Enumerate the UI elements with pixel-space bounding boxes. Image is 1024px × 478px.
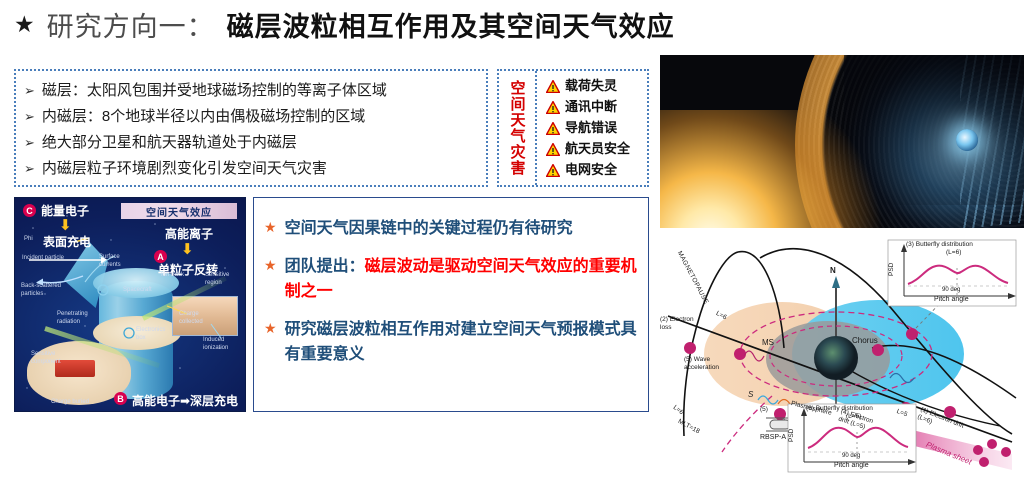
down-arrow-icon: ⬇	[181, 242, 194, 257]
label-ion-track: Ion track	[161, 271, 184, 279]
arrow-bullet-icon: ➢	[24, 78, 35, 104]
hazard-title: 空间天气灾害	[509, 80, 526, 176]
label-energetic-ions: 高能离子	[165, 225, 213, 242]
arrow-bullet-icon: ➢	[24, 130, 35, 156]
facts-item-text: 磁层：太阳风包围并受地球磁场控制的等离子体区域	[42, 78, 387, 104]
list-item: ★ 空间天气因果链中的关键过程仍有待研究	[264, 216, 638, 241]
badge-c: C	[23, 204, 36, 217]
hazard-box: 空间天气灾害 载荷失灵 通讯中断 导航错误	[497, 69, 649, 187]
radiation-belt-diagram: MAGNETOPAUSE (2) Electron loss (5) Wave …	[660, 228, 1024, 478]
space-weather-effects-banner: 空间天气效应	[121, 203, 237, 219]
facts-item-text: 内磁层：8个地球半径以内由偶极磁场控制的区域	[42, 104, 365, 130]
spacecraft-charging-figure: 空间天气效应 C A B ⬇ ⬇ 能量电子 表面充电 高能离子 单粒子反转 高能…	[14, 197, 246, 412]
warning-triangle-icon	[546, 80, 560, 93]
facts-box: ➢ 磁层：太阳风包围并受地球磁场控制的等离子体区域 ➢ 内磁层：8个地球半径以内…	[14, 69, 488, 187]
label-deep-charging: 高能电子➡深层充电	[132, 392, 238, 409]
list-item: 载荷失灵	[546, 76, 647, 96]
warning-triangle-icon	[546, 101, 560, 114]
slide-root: ★ 研究方向一： 磁层波粒相互作用及其空间天气效应 ➢ 磁层：太阳风包围并受地球…	[0, 0, 1024, 478]
facts-item-text: 绝大部分卫星和航天器轨道处于内磁层	[42, 130, 297, 156]
arrow-bullet-icon: ➢	[24, 156, 35, 182]
list-item: ★ 研究磁层波粒相互作用对建立空间天气预报模式具有重要意义	[264, 317, 638, 367]
facts-item-text: 内磁层粒子环境剧烈变化引发空间天气灾害	[42, 156, 327, 182]
arrow-bullet-icon: ➢	[24, 104, 35, 130]
page-title: ★ 研究方向一： 磁层波粒相互作用及其空间天气效应	[14, 4, 675, 44]
list-item: ➢ 绝大部分卫星和航天器轨道处于内磁层	[24, 130, 486, 156]
title-prefix: 研究方向一：	[47, 5, 215, 44]
key-points-list: ★ 空间天气因果链中的关键过程仍有待研究 ★ 团队提出：磁层波动是驱动空间天气效…	[254, 198, 648, 367]
list-item: ➢ 内磁层：8个地球半径以内由偶极磁场控制的区域	[24, 104, 486, 130]
hazard-item-label: 载荷失灵	[565, 76, 617, 96]
banner-label: 空间天气效应	[146, 204, 212, 219]
label-energetic-electrons: 能量电子	[41, 202, 89, 219]
label-charge-buried: Charge buried	[51, 398, 89, 406]
star-icon: ★	[14, 13, 35, 36]
magnetosphere-photo	[660, 55, 1024, 230]
label-incident-particle: Incident particle	[22, 254, 64, 262]
sun-glow	[660, 110, 890, 230]
label-back-scattered-particles: Back-scattered particles	[21, 282, 61, 298]
warning-triangle-icon	[546, 122, 560, 135]
facts-list: ➢ 磁层：太阳风包围并受地球磁场控制的等离子体区域 ➢ 内磁层：8个地球半径以内…	[16, 71, 486, 182]
list-item: 航天员安全	[546, 139, 647, 159]
list-item: 电网安全	[546, 160, 647, 180]
label-phi: Phi	[24, 235, 33, 243]
hazard-item-label: 航天员安全	[565, 139, 630, 159]
label-penetrating-radiation: Penetrating radiation	[57, 310, 88, 326]
warning-triangle-icon	[546, 143, 560, 156]
label-surface-charging: 表面充电	[43, 233, 91, 250]
label-sensitive-region: Sensitive region	[205, 271, 229, 287]
label-induced-ionization: Induced ionization	[203, 336, 228, 352]
inset-bottom-butterfly-plot	[788, 404, 916, 472]
list-item: ➢ 磁层：太阳风包围并受地球磁场控制的等离子体区域	[24, 78, 486, 104]
hazard-item-label: 通讯中断	[565, 97, 617, 117]
list-item: 通讯中断	[546, 97, 647, 117]
hazard-title-cell: 空间天气灾害	[499, 71, 537, 185]
hazard-item-label: 电网安全	[565, 160, 617, 180]
diagram-svg	[660, 228, 1024, 478]
badge-b: B	[114, 392, 127, 405]
warning-triangle-icon	[546, 164, 560, 177]
label-electronics-box: Electronics box	[136, 326, 165, 342]
label-sensitive-component: Sensitive component	[31, 350, 61, 366]
list-item: 导航错误	[546, 118, 647, 138]
inset-top-butterfly-plot	[888, 240, 1016, 306]
list-item: ➢ 内磁层粒子环境剧烈变化引发空间天气灾害	[24, 156, 486, 182]
star-bullet-icon: ★	[264, 254, 277, 277]
label-surface-currents: Surface currents	[99, 253, 121, 269]
key-points-panel: ★ 空间天气因果链中的关键过程仍有待研究 ★ 团队提出：磁层波动是驱动空间天气效…	[253, 197, 649, 412]
key-point-text: 空间天气因果链中的关键过程仍有待研究	[285, 216, 573, 241]
label-spacecraft: Spacecraft	[123, 286, 152, 294]
hazard-items: 载荷失灵 通讯中断 导航错误 航天员安全	[537, 71, 647, 185]
key-point-lead: 团队提出：	[285, 258, 365, 275]
star-bullet-icon: ★	[264, 216, 277, 239]
label-charge-collected: Charge collected	[179, 310, 203, 326]
key-point-text: 研究磁层波粒相互作用对建立空间天气预报模式具有重要意义	[285, 317, 638, 367]
key-point-text: 团队提出：磁层波动是驱动空间天气效应的重要机制之一	[285, 254, 638, 304]
title-main: 磁层波粒相互作用及其空间天气效应	[227, 5, 675, 44]
earth-icon	[956, 129, 978, 151]
list-item: ★ 团队提出：磁层波动是驱动空间天气效应的重要机制之一	[264, 254, 638, 304]
star-bullet-icon: ★	[264, 317, 277, 340]
hazard-item-label: 导航错误	[565, 118, 617, 138]
down-arrow-icon: ⬇	[59, 218, 72, 233]
